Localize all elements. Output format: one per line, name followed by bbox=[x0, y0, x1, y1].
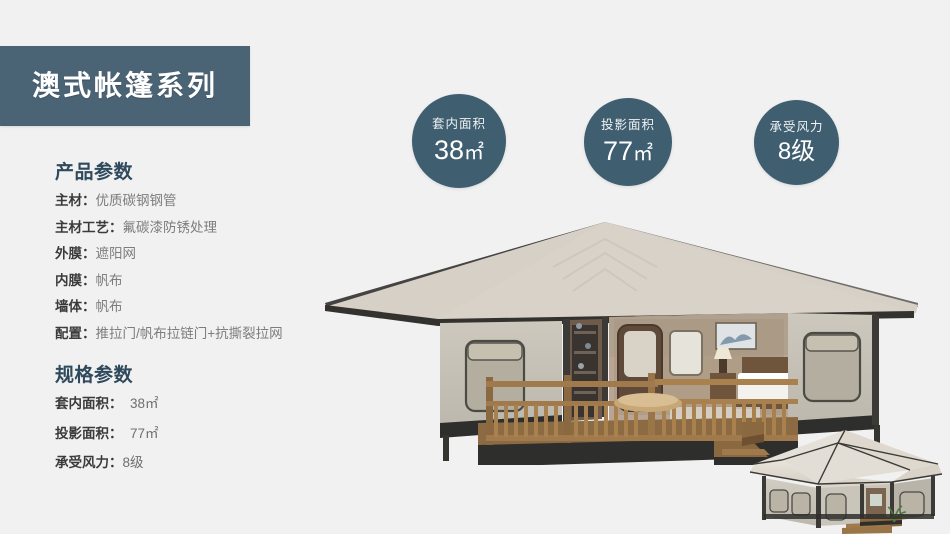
product-spec-page: 澳式帐篷系列 产品参数 主材：优质碳钢钢管 主材工艺：氟碳漆防锈处理 外膜：遮阳… bbox=[0, 0, 950, 534]
badge-unit: ㎡ bbox=[464, 142, 484, 164]
param-value: 氟碳漆防锈处理 bbox=[123, 220, 218, 235]
param-value: 遮阳网 bbox=[96, 246, 137, 261]
product-params-heading: 产品参数 bbox=[55, 163, 355, 182]
param-value: 帆布 bbox=[96, 299, 123, 314]
spec-unit: ㎡ bbox=[145, 426, 159, 441]
badge-value-group: 38㎡ bbox=[434, 137, 484, 164]
param-label: 主材： bbox=[55, 193, 96, 208]
spec-value: 77 bbox=[130, 426, 145, 441]
param-row-outer-membrane: 外膜：遮阳网 bbox=[55, 247, 355, 261]
spec-value: 38 bbox=[130, 396, 145, 411]
badge-projected-area: 投影面积 77㎡ bbox=[584, 98, 672, 186]
param-row-main-material: 主材：优质碳钢钢管 bbox=[55, 194, 355, 208]
spec-value: 8级 bbox=[123, 455, 144, 470]
badge-caption: 承受风力 bbox=[769, 121, 823, 134]
param-value: 帆布 bbox=[96, 273, 123, 288]
badge-wind-resistance: 承受风力 8级 bbox=[754, 100, 839, 185]
spec-label: 承受风力： bbox=[55, 455, 123, 470]
param-row-material-process: 主材工艺：氟碳漆防锈处理 bbox=[55, 221, 355, 235]
title-banner: 澳式帐篷系列 bbox=[0, 46, 250, 126]
badge-value: 8级 bbox=[778, 138, 815, 165]
spec-row-projected-area: 投影面积： 77㎡ bbox=[55, 427, 355, 441]
spec-params-heading: 规格参数 bbox=[55, 366, 355, 385]
spec-unit: ㎡ bbox=[145, 396, 159, 411]
param-label: 外膜： bbox=[55, 246, 96, 261]
badge-value-group: 77㎡ bbox=[603, 138, 653, 165]
spec-row-interior-area: 套内面积： 38㎡ bbox=[55, 397, 355, 411]
param-row-configuration: 配置：推拉门/帆布拉链门+抗撕裂拉网 bbox=[55, 327, 355, 341]
badge-value-group: 8级 bbox=[778, 140, 815, 164]
param-label: 内膜： bbox=[55, 273, 96, 288]
spec-label: 套内面积： bbox=[55, 396, 123, 411]
param-value: 推拉门/帆布拉链门+抗撕裂拉网 bbox=[96, 326, 283, 341]
param-label: 墙体： bbox=[55, 299, 96, 314]
badge-interior-area: 套内面积 38㎡ bbox=[412, 94, 506, 188]
specification-column: 产品参数 主材：优质碳钢钢管 主材工艺：氟碳漆防锈处理 外膜：遮阳网 内膜：帆布… bbox=[55, 163, 355, 486]
badge-caption: 套内面积 bbox=[432, 118, 486, 131]
badge-caption: 投影面积 bbox=[601, 119, 655, 132]
param-row-wall: 墙体：帆布 bbox=[55, 300, 355, 314]
badge-value: 38 bbox=[434, 135, 464, 165]
param-label: 配置： bbox=[55, 326, 96, 341]
param-row-inner-membrane: 内膜：帆布 bbox=[55, 274, 355, 288]
param-label: 主材工艺： bbox=[55, 220, 123, 235]
spec-label: 投影面积： bbox=[55, 426, 123, 441]
param-value: 优质碳钢钢管 bbox=[96, 193, 177, 208]
badge-value: 77 bbox=[603, 136, 633, 166]
badge-unit: ㎡ bbox=[633, 143, 653, 165]
spec-row-wind-resistance: 承受风力：8级 bbox=[55, 456, 355, 470]
page-title: 澳式帐篷系列 bbox=[32, 72, 218, 100]
tent-thumbnail-illustration bbox=[742, 418, 950, 534]
